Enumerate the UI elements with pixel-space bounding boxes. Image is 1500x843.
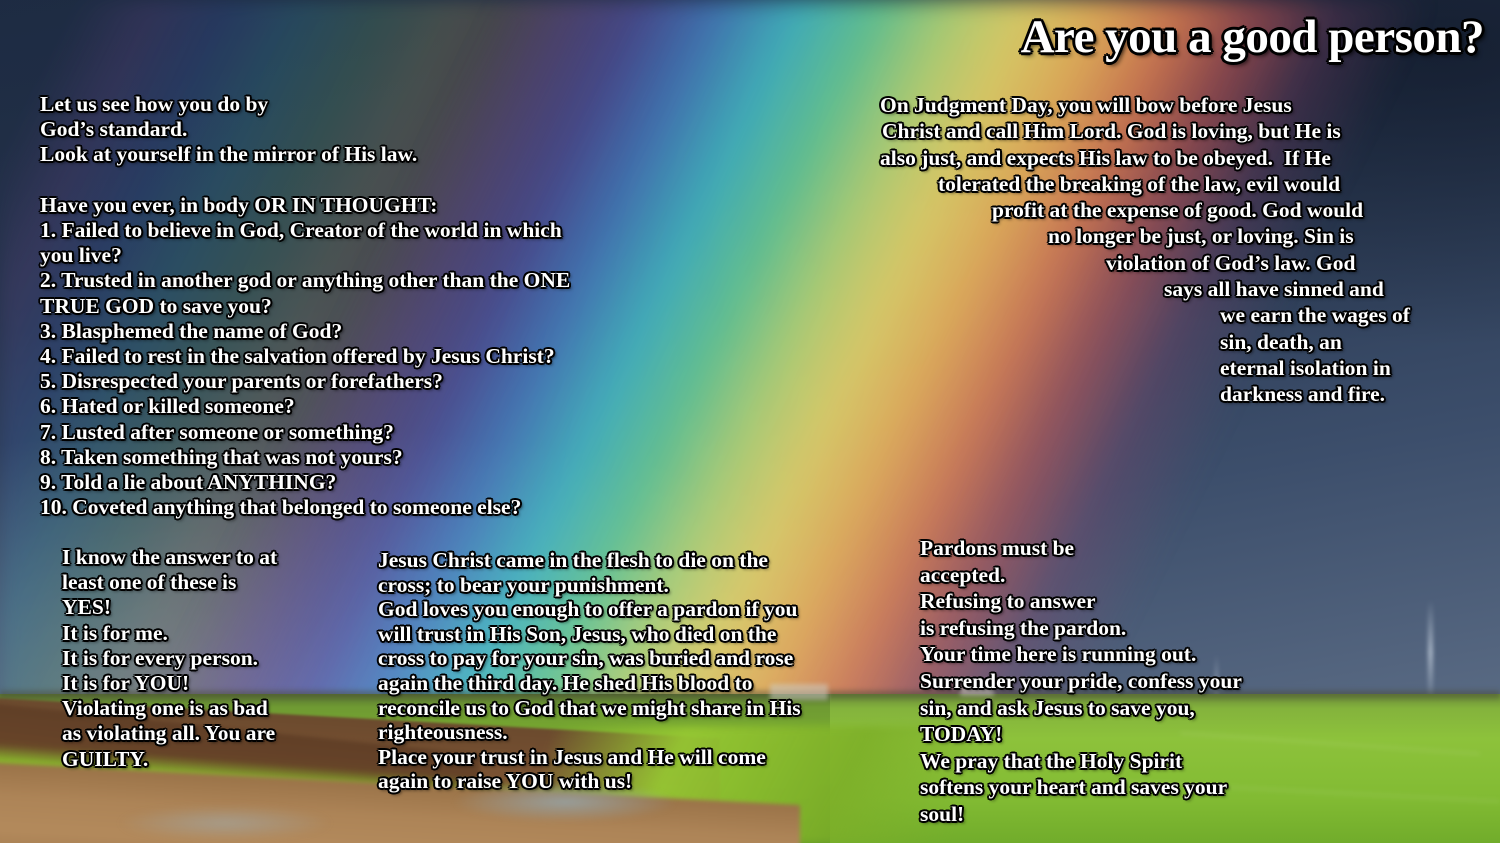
path-puddle-2 — [120, 806, 330, 840]
intro-line — [40, 168, 570, 193]
guilty-line: I know the answer to at — [62, 545, 277, 570]
pardon-line: soul! — [920, 801, 1242, 828]
intro-line: 1. Failed to believe in God, Creator of … — [40, 218, 570, 243]
pardon-line: softens your heart and saves your — [920, 774, 1242, 801]
gospel-line: will trust in His Son, Jesus, who died o… — [378, 622, 801, 647]
intro-text-block: Let us see how you do byGod’s standard.L… — [40, 92, 570, 520]
intro-line: 9. Told a lie about ANYTHING? — [40, 470, 570, 495]
intro-line: 8. Taken something that was not yours? — [40, 445, 570, 470]
pardon-line: is refusing the pardon. — [920, 615, 1242, 642]
pardon-line: sin, and ask Jesus to save you, — [920, 695, 1242, 722]
intro-line: God’s standard. — [40, 117, 570, 142]
guilty-line: Violating one is as bad — [62, 696, 277, 721]
guilty-line: It is for YOU! — [62, 671, 277, 696]
judgment-line: violation of God’s law. God — [1106, 250, 1410, 276]
gospel-line: God loves you enough to offer a pardon i… — [378, 597, 801, 622]
intro-line: you live? — [40, 243, 570, 268]
guilty-line: GUILTY. — [62, 747, 277, 772]
judgment-line: eternal isolation in — [1220, 355, 1410, 381]
intro-line: 3. Blasphemed the name of God? — [40, 319, 570, 344]
gospel-line: again to raise YOU with us! — [378, 769, 801, 794]
gospel-line: Place your trust in Jesus and He will co… — [378, 745, 801, 770]
guilty-line: It is for me. — [62, 621, 277, 646]
pardon-line: Refusing to answer — [920, 588, 1242, 615]
judgment-line: sin, death, an — [1220, 329, 1410, 355]
judgment-line: On Judgment Day, you will bow before Jes… — [880, 92, 1410, 118]
judgment-line: darkness and fire. — [1220, 381, 1410, 407]
intro-line: Have you ever, in body OR IN THOUGHT: — [40, 193, 570, 218]
intro-line: TRUE GOD to save you? — [40, 294, 570, 319]
judgment-line: no longer be just, or loving. Sin is — [1048, 223, 1410, 249]
pardon-line: We pray that the Holy Spirit — [920, 748, 1242, 775]
intro-line: Look at yourself in the mirror of His la… — [40, 142, 570, 167]
judgment-line: says all have sinned and — [1164, 276, 1410, 302]
pardon-line: TODAY! — [920, 721, 1242, 748]
gospel-line: Jesus Christ came in the flesh to die on… — [378, 548, 801, 573]
pardon-line: Your time here is running out. — [920, 641, 1242, 668]
pardon-line: Surrender your pride, confess your — [920, 668, 1242, 695]
pardon-text-block: Pardons must beaccepted.Refusing to answ… — [920, 535, 1242, 828]
gospel-line: cross; to bear your punishment. — [378, 573, 801, 598]
gospel-line: righteousness. — [378, 720, 801, 745]
intro-line: 4. Failed to rest in the salvation offer… — [40, 344, 570, 369]
judgment-line: tolerated the breaking of the law, evil … — [938, 171, 1410, 197]
judgment-line: we earn the wages of — [1220, 302, 1410, 328]
judgment-line: profit at the expense of good. God would — [992, 197, 1410, 223]
gospel-text-block: Jesus Christ came in the flesh to die on… — [378, 548, 801, 794]
guilty-line: YES! — [62, 595, 277, 620]
intro-line: 10. Coveted anything that belonged to so… — [40, 495, 570, 520]
poster-canvas: Are you a good person? Let us see how yo… — [0, 0, 1500, 843]
judgment-line: Christ and call Him Lord. God is loving,… — [882, 118, 1410, 144]
guilty-text-block: I know the answer to atleast one of thes… — [62, 545, 277, 772]
pardon-line: accepted. — [920, 562, 1242, 589]
guilty-line: It is for every person. — [62, 646, 277, 671]
guilty-line: as violating all. You are — [62, 721, 277, 746]
intro-line: 2. Trusted in another god or anything ot… — [40, 268, 570, 293]
intro-line: Let us see how you do by — [40, 92, 570, 117]
judgment-line: also just, and expects His law to be obe… — [880, 145, 1410, 171]
intro-line: 7. Lusted after someone or something? — [40, 420, 570, 445]
gospel-line: reconcile us to God that we might share … — [378, 696, 801, 721]
pardon-line: Pardons must be — [920, 535, 1242, 562]
guilty-line: least one of these is — [62, 570, 277, 595]
intro-line: 6. Hated or killed someone? — [40, 394, 570, 419]
gospel-line: again the third day. He shed His blood t… — [378, 671, 801, 696]
intro-line: 5. Disrespected your parents or forefath… — [40, 369, 570, 394]
gospel-line: cross to pay for your sin, was buried an… — [378, 646, 801, 671]
page-title: Are you a good person? — [1021, 8, 1484, 66]
judgment-text-block: On Judgment Day, you will bow before Jes… — [880, 92, 1410, 408]
